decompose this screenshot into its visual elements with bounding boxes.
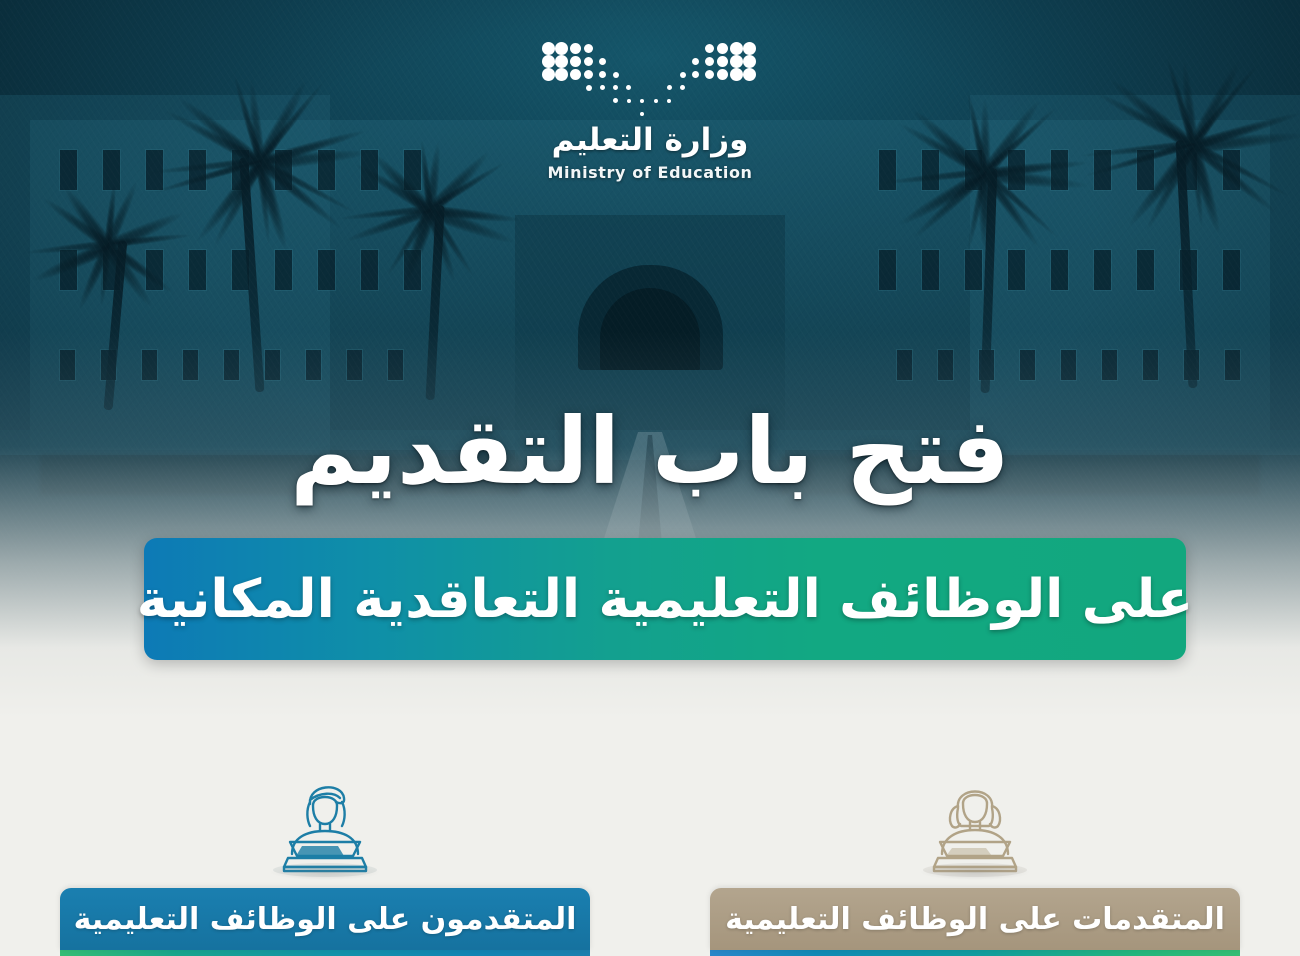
logo-english-name: Ministry of Education	[547, 163, 752, 182]
ministry-logo: وزارة التعليم Ministry of Education	[0, 40, 1300, 182]
card-female-applicants[interactable]: المتقدمات على الوظائف التعليمية	[650, 726, 1300, 956]
page-title: فتح باب التقديم	[0, 398, 1300, 505]
subtitle-banner-text: على الوظائف التعليمية التعاقدية المكانية	[137, 569, 1193, 630]
poster-root: وزارة التعليم Ministry of Education فتح …	[0, 0, 1300, 956]
female-applicants-button[interactable]: المتقدمات على الوظائف التعليمية	[710, 888, 1240, 950]
applicant-cards: المتقدمات على الوظائف التعليمية	[0, 726, 1300, 956]
male-card-underline	[60, 950, 590, 956]
male-applicants-button[interactable]: المتقدمون على الوظائف التعليمية	[60, 888, 590, 950]
female-applicants-label: المتقدمات على الوظائف التعليمية	[725, 902, 1225, 937]
saudi-moe-dotted-palm-emblem-icon	[540, 40, 760, 108]
card-male-applicants[interactable]: المتقدمون على الوظائف التعليمية	[0, 726, 650, 956]
logo-arabic-name: وزارة التعليم	[552, 122, 749, 158]
male-applicants-label: المتقدمون على الوظائف التعليمية	[74, 902, 577, 937]
female-card-underline	[710, 950, 1240, 956]
subtitle-banner: على الوظائف التعليمية التعاقدية المكانية	[144, 538, 1186, 660]
female-applicant-laptop-icon	[900, 770, 1050, 882]
male-applicant-laptop-icon	[250, 770, 400, 882]
